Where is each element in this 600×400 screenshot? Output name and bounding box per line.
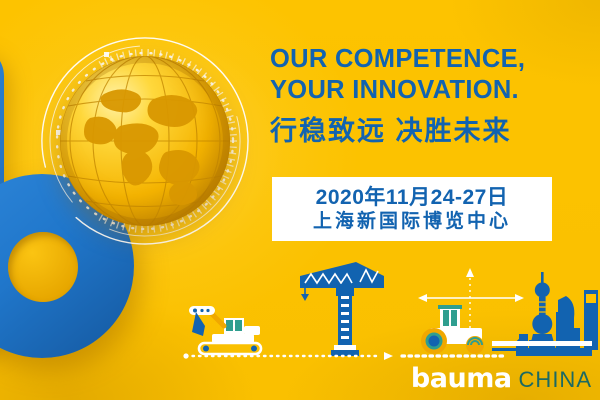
logo-rule-blue bbox=[492, 348, 592, 351]
headline-chinese: 行稳致远 决胜未来 bbox=[270, 115, 590, 147]
bauma-china-logo: bauma CHINA bbox=[411, 363, 592, 394]
bauma-china-banner: OUR COMPETENCE, YOUR INNOVATION. 行稳致远 决胜… bbox=[0, 0, 600, 400]
globe-graphic bbox=[38, 34, 252, 248]
logo-region: CHINA bbox=[519, 367, 592, 393]
event-date: 2020年11月24-27日 bbox=[316, 186, 509, 210]
logo-wordmark: bauma bbox=[411, 363, 512, 394]
headline-block: OUR COMPETENCE, YOUR INNOVATION. 行稳致远 决胜… bbox=[270, 44, 590, 147]
logo-rule-white bbox=[492, 341, 592, 346]
road-roller-icon bbox=[421, 305, 484, 354]
globe-sphere bbox=[60, 56, 230, 226]
measurement-crosshair bbox=[418, 268, 524, 336]
tower-crane-icon bbox=[300, 262, 384, 356]
globe-grid-and-continents bbox=[60, 56, 230, 226]
excavator-icon bbox=[189, 306, 261, 354]
headline-english-line-2: YOUR INNOVATION. bbox=[270, 75, 590, 106]
event-info-plate: 2020年11月24-27日 上海新国际博览中心 bbox=[272, 177, 552, 241]
event-venue: 上海新国际博览中心 bbox=[313, 210, 511, 233]
headline-english-line-1: OUR COMPETENCE, bbox=[270, 44, 590, 75]
